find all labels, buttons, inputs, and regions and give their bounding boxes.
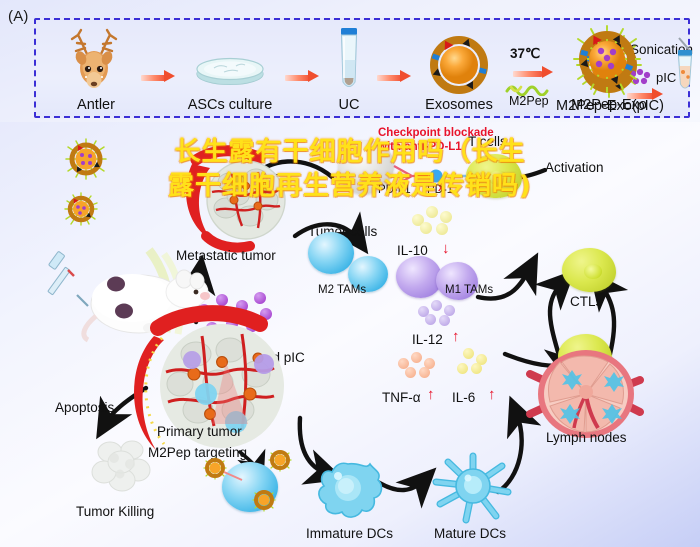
m2pep-targeting-exosomes-icon: [200, 450, 296, 517]
metastatic-tumor-label: Metastatic tumor: [176, 248, 276, 263]
exosome-particle-large: [63, 136, 109, 187]
loaded-exosome-icon: [570, 22, 644, 96]
lymph-nodes-label: Lymph nodes: [546, 430, 627, 445]
stage-label-uc: UC: [339, 97, 360, 113]
il-10-down-arrow: ↓: [442, 240, 450, 257]
apoptotic-cell-icon: [86, 432, 156, 503]
stage-uc: UC: [319, 24, 379, 116]
primary-tumor-label: Primary tumor: [157, 424, 242, 439]
stage-antler: Antler: [48, 24, 144, 116]
arrow-exosomes-to-m2pepexo: [513, 68, 553, 77]
stage-label-antler: Antler: [77, 97, 115, 113]
stage-label-m2pep-exo-pic: M2Pep-Exo(pIC): [556, 98, 664, 114]
il-10-dots: [412, 206, 458, 234]
arrow-antler-to-culture: [141, 72, 175, 81]
exosome-icon: [428, 34, 490, 96]
immature-dcs-label: Immature DCs: [306, 526, 393, 541]
stage-label-exosomes: Exosomes: [425, 97, 493, 113]
stage-m2pep-exo-pic: [664, 24, 694, 116]
tnf-alpha-label: TNF-α: [382, 390, 421, 405]
metastatic-tumor-icon: [172, 144, 304, 261]
ctls-label: CTLs: [570, 294, 602, 309]
immature-dc-icon: [308, 454, 388, 531]
m1-tam-cell-1: [396, 256, 442, 298]
arrow-uc-to-exosomes: [377, 72, 411, 81]
il-6-label: IL-6: [452, 390, 475, 405]
m2-tam-cell-1: [308, 232, 354, 274]
il-12-up-arrow: ↑: [452, 328, 460, 345]
tnf-alpha-up-arrow: ↑: [427, 386, 435, 403]
petri-dish-icon: [192, 54, 268, 91]
stage-label-ascs-culture: ASCs culture: [188, 97, 273, 113]
ctl-cell-1: [562, 248, 616, 292]
stage-ascs-culture: ASCs culture: [176, 24, 284, 116]
tumor-killing-label: Tumor Killing: [76, 504, 154, 519]
checkpoint-blockade-line2: with anti-PD-L1: [378, 141, 462, 154]
t-cells-label: T cells: [468, 134, 507, 149]
exosome-particle-small: [62, 190, 100, 233]
mature-dcs-label: Mature DCs: [434, 526, 506, 541]
il-6-dots: [450, 348, 492, 374]
apoptosis-label: Apoptosis: [55, 400, 114, 415]
pd-l1-label: PD-L1: [378, 184, 411, 196]
activation-label: Activation: [545, 160, 604, 175]
stage-exosomes: Exosomes: [411, 24, 507, 116]
panel-a-letter: (A): [8, 8, 29, 25]
il-6-up-arrow: ↑: [488, 386, 496, 403]
centrifuge-tube-icon: [336, 26, 362, 101]
m1-tams-label: M1 TAMs: [445, 284, 493, 296]
m2-tams-label: M2 TAMs: [318, 284, 366, 296]
t-cell-blob: [466, 154, 522, 198]
temperature-label: 37℃: [510, 46, 540, 62]
mature-dc-icon: [430, 448, 516, 531]
il-12-label: IL-12: [412, 332, 443, 347]
pd-1-label: PD-1: [427, 184, 453, 196]
deer-icon: [61, 28, 131, 95]
arrow-culture-to-uc: [285, 72, 319, 81]
panel-b-container: Metastatic tumor Tumor cells Checkpoint …: [0, 122, 700, 547]
tnf-alpha-dots: [398, 352, 440, 378]
figure-root: (A): [0, 0, 700, 547]
il-12-dots: [418, 300, 464, 326]
m2pep-label: M2Pep: [509, 94, 549, 108]
